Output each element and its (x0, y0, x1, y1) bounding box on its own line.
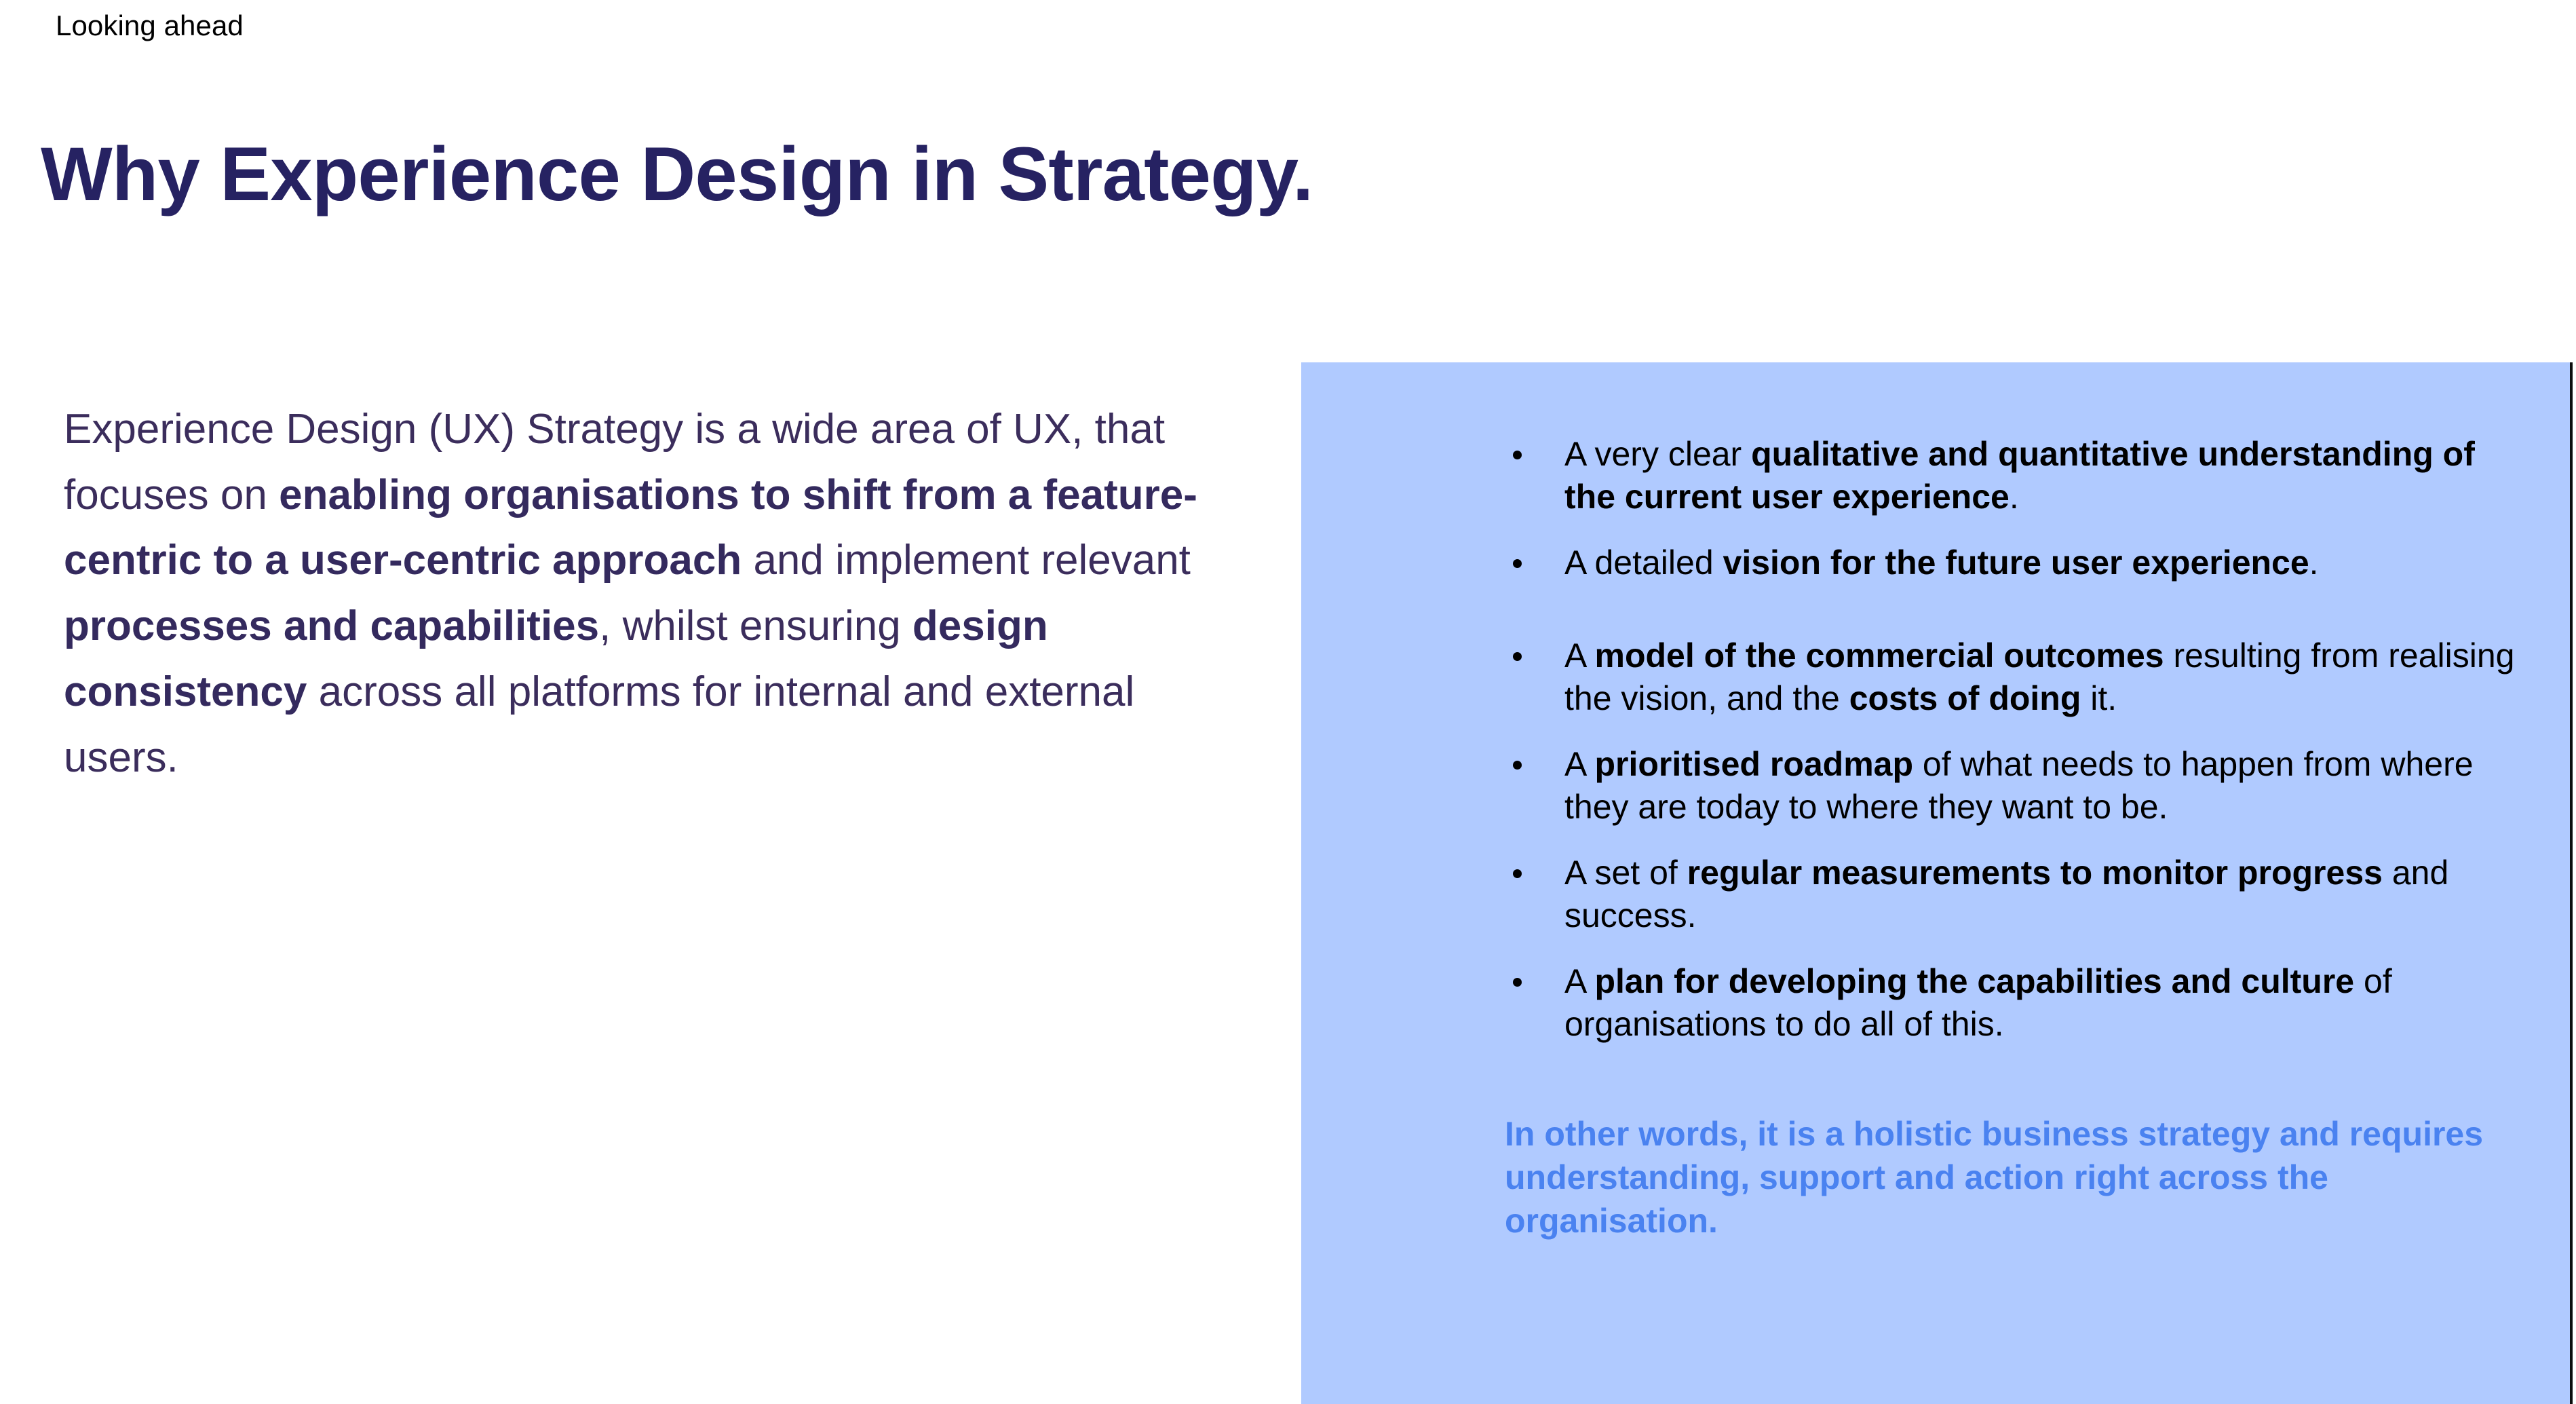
highlight-panel: A very clear qualitative and quantitativ… (1301, 362, 2573, 1404)
bullet-dot-icon (1513, 869, 1522, 878)
list-item: A model of the commercial outcomes resul… (1505, 634, 2521, 720)
bullet-dot-icon (1513, 978, 1522, 987)
list-item: A set of regular measurements to monitor… (1505, 852, 2521, 937)
list-item: A detailed vision for the future user ex… (1505, 542, 2521, 584)
list-item-label: A plan for developing the capabilities a… (1564, 962, 2392, 1043)
body-paragraph: Experience Design (UX) Strategy is a wid… (64, 397, 1231, 791)
list-item-label: A prioritised roadmap of what needs to h… (1564, 745, 2474, 826)
panel-summary: In other words, it is a holistic busines… (1505, 1112, 2521, 1242)
list-item: A very clear qualitative and quantitativ… (1505, 433, 2521, 518)
bullet-dot-icon (1513, 652, 1522, 661)
list-item-label: A model of the commercial outcomes resul… (1564, 637, 2514, 717)
list-item-label: A set of regular measurements to monitor… (1564, 854, 2448, 934)
slide-kicker: Looking ahead (56, 9, 244, 43)
list-item-label: A detailed vision for the future user ex… (1564, 544, 2319, 582)
list-item-label: A very clear qualitative and quantitativ… (1564, 435, 2475, 516)
page-title: Why Experience Design in Strategy. (41, 132, 1313, 216)
bullet-dot-icon (1513, 559, 1522, 568)
slide-canvas: Looking ahead Why Experience Design in S… (0, 0, 2576, 1404)
list-item: A prioritised roadmap of what needs to h… (1505, 743, 2521, 829)
list-item: A plan for developing the capabilities a… (1505, 960, 2521, 1046)
bullet-dot-icon (1513, 451, 1522, 459)
bullet-dot-icon (1513, 761, 1522, 770)
deliverables-list: A very clear qualitative and quantitativ… (1505, 433, 2521, 1046)
